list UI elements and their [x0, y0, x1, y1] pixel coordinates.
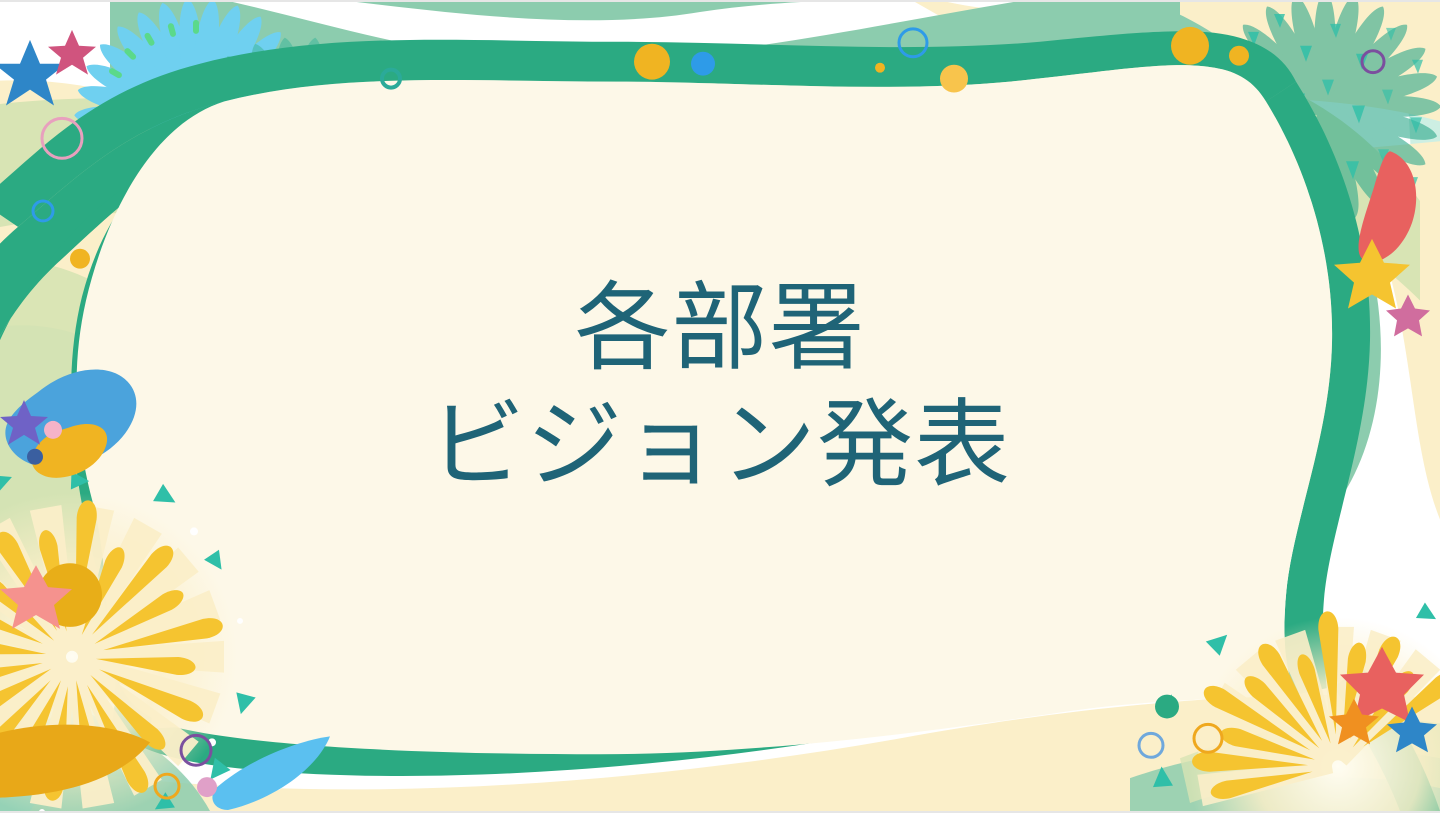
presentation-slide: 各部署 ビジョン発表: [0, 0, 1440, 813]
yellow-dot-left-ribbon: [70, 249, 90, 269]
teal-dot-bottom-right: [1155, 695, 1179, 719]
amber-dot-top-right-center: [940, 65, 968, 93]
pink-dot-bottom-left: [197, 777, 217, 797]
yellow-dot-top-center: [634, 44, 670, 80]
small-orange-dot-top: [875, 63, 885, 73]
navy-dot-left: [27, 449, 43, 465]
pink-dot-left: [44, 421, 62, 439]
slide-background-artwork: [0, 2, 1440, 811]
amber-dot-small-top-right: [1229, 46, 1249, 66]
blue-dot-top-center: [691, 52, 715, 76]
amber-dot-large-top-right: [1171, 27, 1209, 65]
inner-cream-panel: [77, 65, 1333, 754]
